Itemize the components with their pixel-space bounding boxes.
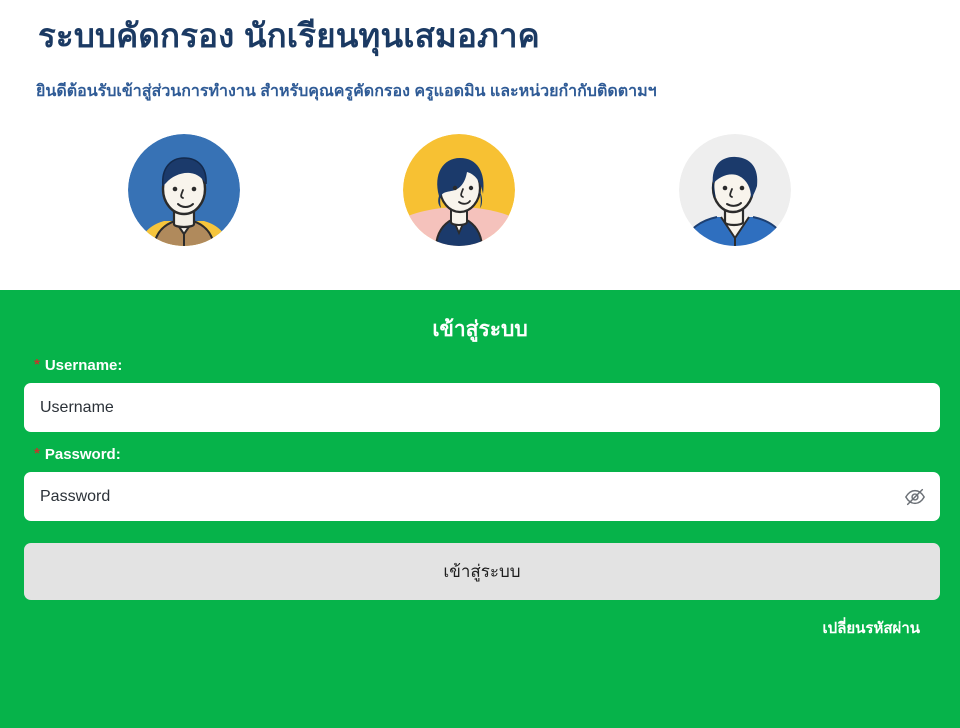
login-heading: เข้าสู่ระบบ xyxy=(0,290,960,343)
required-asterisk-password: * xyxy=(34,445,40,462)
password-visibility-toggle[interactable] xyxy=(902,484,928,510)
avatar-male-blue-shirt xyxy=(679,134,791,246)
hero-section: ระบบคัดกรอง นักเรียนทุนเสมอภาค ยินดีต้อน… xyxy=(0,0,960,290)
username-label-text: Username: xyxy=(45,357,123,374)
password-label-text: Password: xyxy=(45,446,121,463)
footer-link-row: เปลี่ยนรหัสผ่าน xyxy=(0,616,920,640)
required-asterisk-username: * xyxy=(34,356,40,373)
username-input-wrap xyxy=(24,383,940,432)
username-field-block: *Username: xyxy=(0,357,960,432)
page-title: ระบบคัดกรอง นักเรียนทุนเสมอภาค xyxy=(0,0,960,59)
login-submit-button[interactable]: เข้าสู่ระบบ xyxy=(24,543,940,600)
username-input[interactable] xyxy=(24,383,940,432)
username-label: *Username: xyxy=(34,357,936,375)
avatar-male-tan-jacket xyxy=(128,134,240,246)
avatar-row xyxy=(0,134,960,250)
login-panel: เข้าสู่ระบบ *Username: *Password: เข้าสู… xyxy=(0,290,960,728)
avatar-female-bob-navy-top xyxy=(403,134,515,246)
page-subtitle: ยินดีต้อนรับเข้าสู่ส่วนการทำงาน สำหรับคุ… xyxy=(0,59,960,103)
eye-off-icon xyxy=(904,486,926,508)
password-field-block: *Password: xyxy=(0,446,960,521)
password-label: *Password: xyxy=(34,446,936,464)
password-input[interactable] xyxy=(24,472,940,521)
password-input-wrap xyxy=(24,472,940,521)
change-password-link[interactable]: เปลี่ยนรหัสผ่าน xyxy=(823,620,920,637)
